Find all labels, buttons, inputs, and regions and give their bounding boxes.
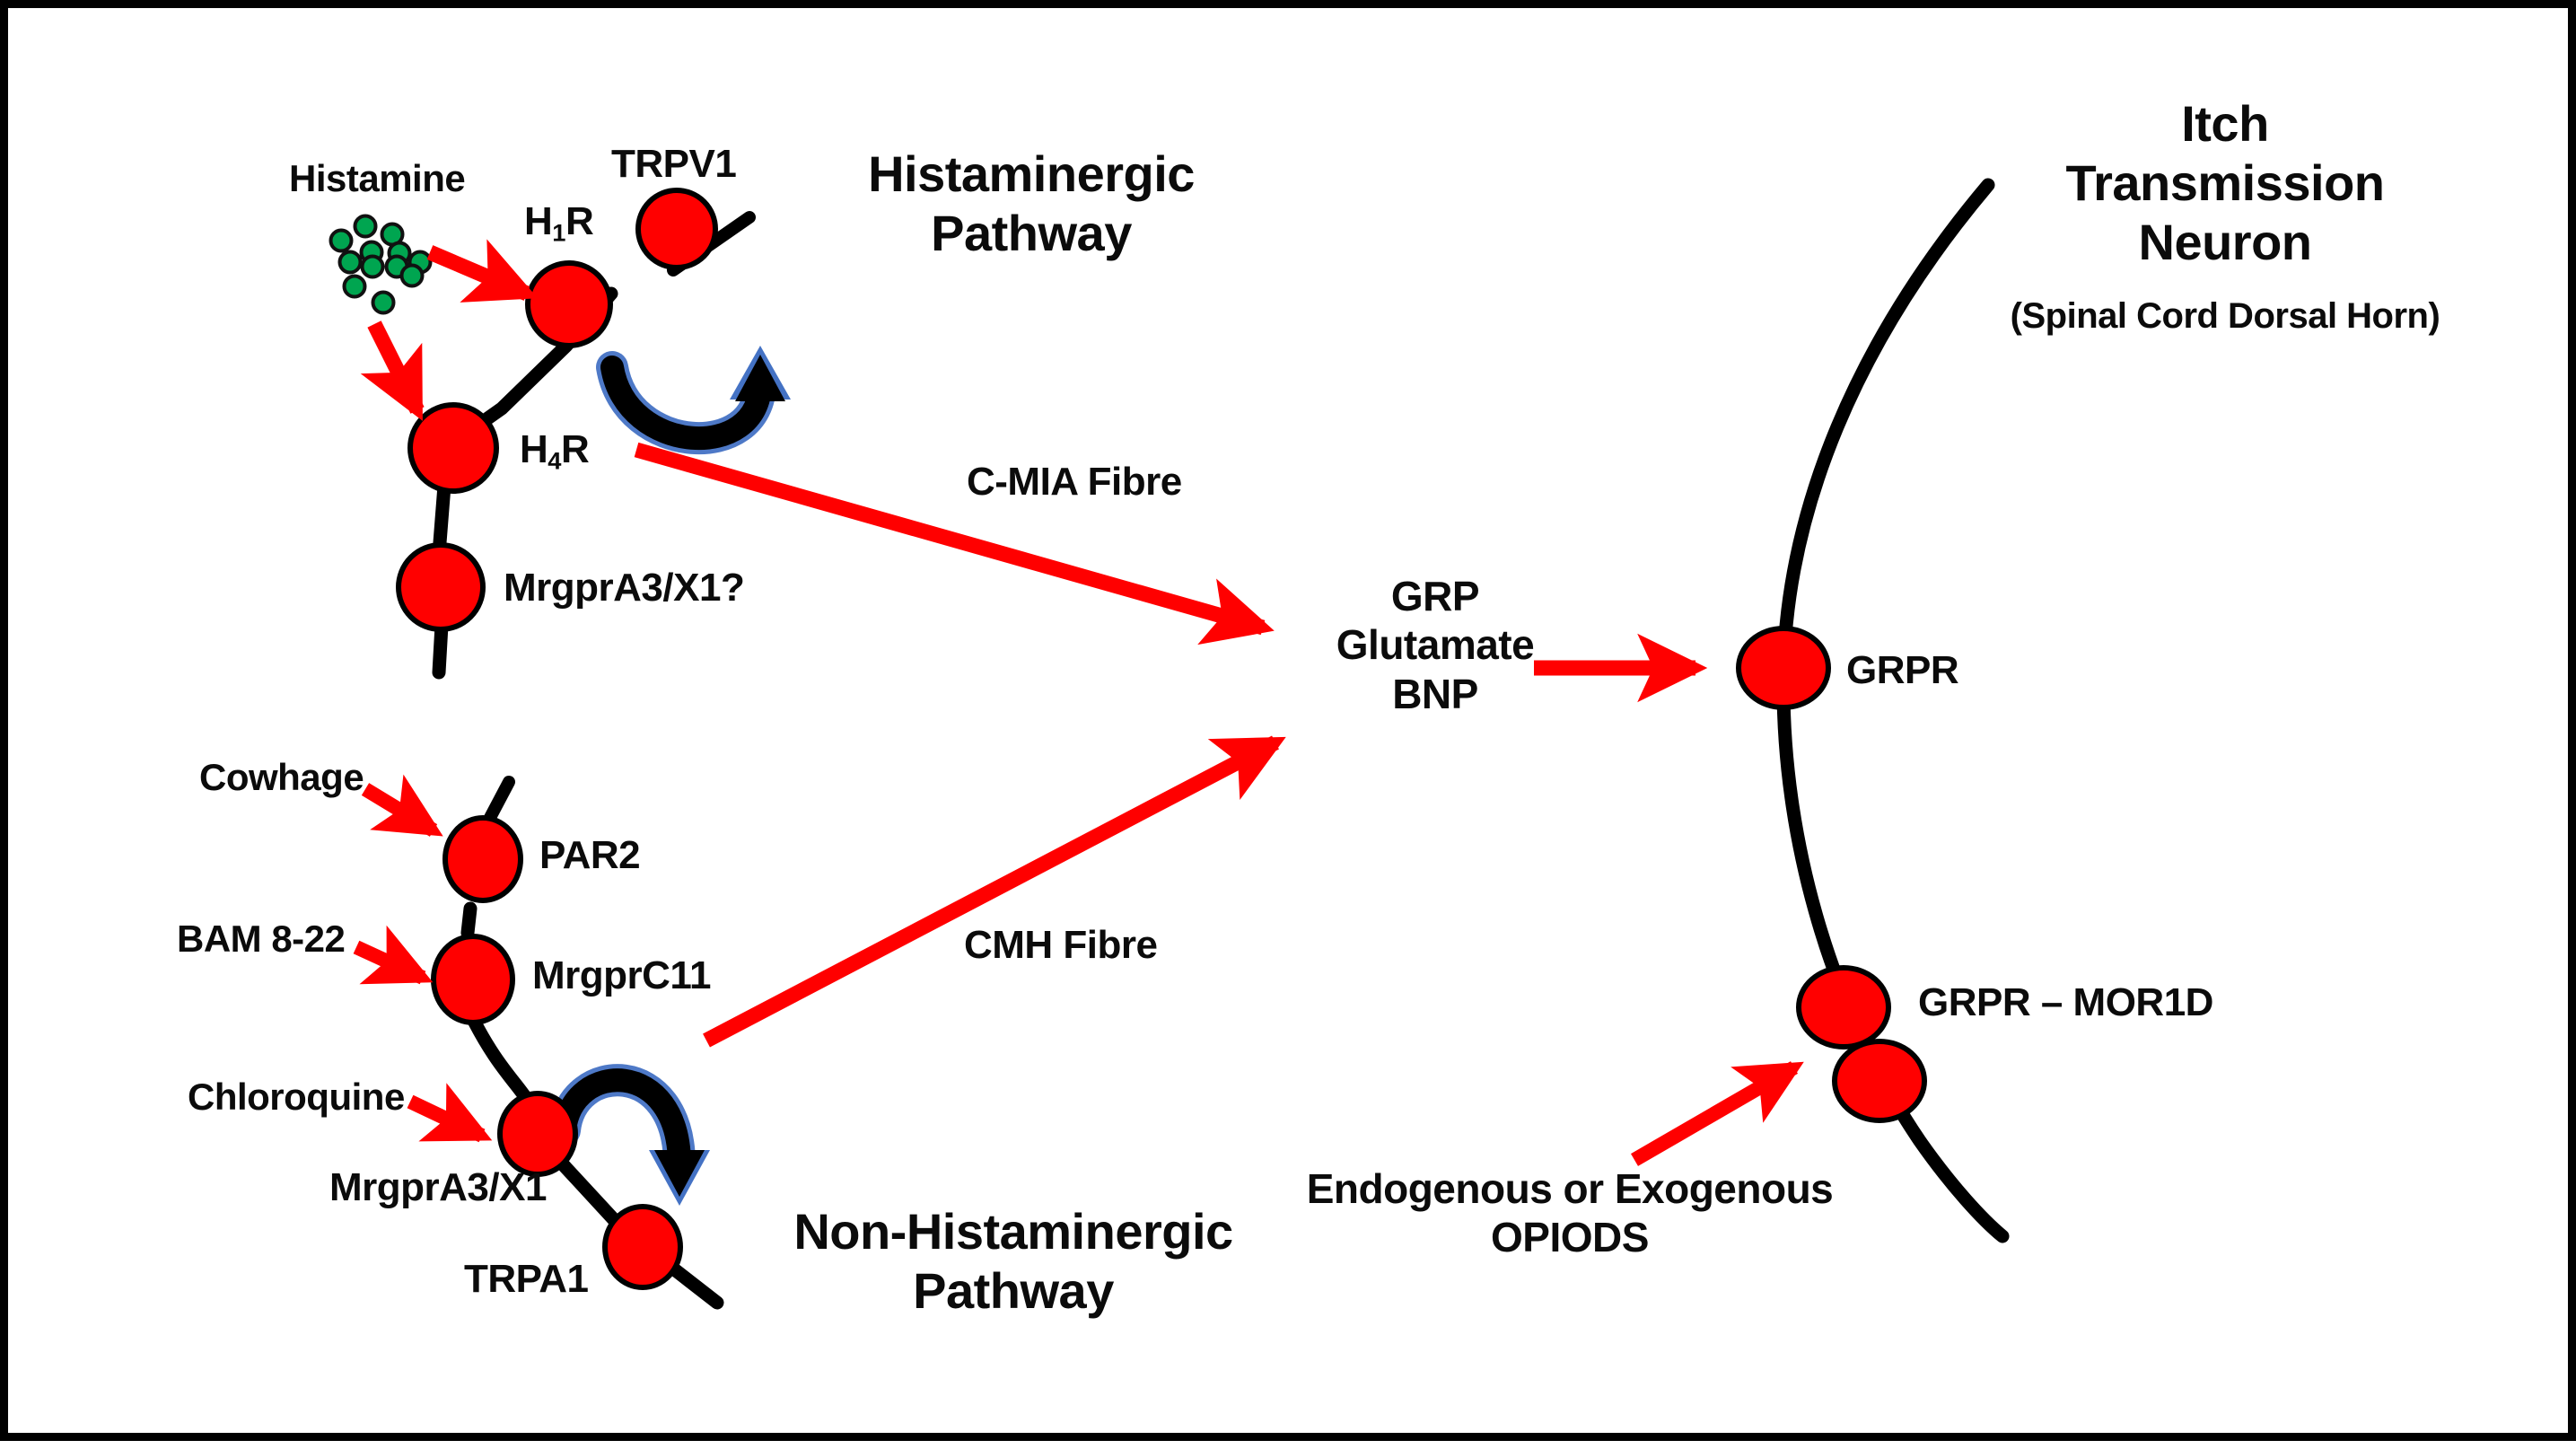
neuron-subtitle: (Spinal Cord Dorsal Horn) <box>1965 295 2485 338</box>
receptor-grpr[interactable] <box>1739 628 1828 707</box>
receptor-label-mrgprc11: MrgprC11 <box>532 953 711 999</box>
fibre-label-c-mia: C-MIA Fibre <box>967 459 1182 505</box>
receptor-label-mrgpra3x1: MrgprA3/X1 <box>329 1164 547 1211</box>
arrow-chloroquine-to-mrgpra3x1 <box>410 1102 482 1136</box>
receptor-label-trpa1: TRPA1 <box>464 1256 588 1303</box>
receptor-label-grpr-mor1d: GRPR – MOR1D <box>1918 979 2213 1026</box>
receptor-par2[interactable] <box>445 818 521 900</box>
receptor-grpr-mor1d-upper[interactable] <box>1799 968 1888 1047</box>
pathway-title-non-histaminergic: Non-HistaminergicPathway <box>717 1202 1310 1321</box>
ligand-label-chloroquine: Chloroquine <box>188 1075 405 1120</box>
receptor-trpv1[interactable] <box>638 190 715 268</box>
ligand-label-bam-8-22: BAM 8-22 <box>177 917 345 962</box>
arrow-bam822-to-mrgprc11 <box>356 947 423 978</box>
receptor-mrgprc11[interactable] <box>434 936 513 1023</box>
neuron-title: ItchTransmissionNeuron <box>1974 94 2476 272</box>
receptor-mrgpra3x1-question[interactable] <box>399 545 483 629</box>
receptor-trpa1[interactable] <box>605 1207 680 1287</box>
receptor-h4r[interactable] <box>410 405 496 491</box>
fibre-label-cmh: CMH Fibre <box>964 922 1158 969</box>
ligand-label-histamine: Histamine <box>289 156 465 201</box>
receptor-label-h1r: H1R <box>524 198 593 248</box>
synaptic-transmitters-label: GRPGlutamateBNP <box>1292 572 1579 718</box>
receptor-label-grpr: GRPR <box>1846 647 1958 694</box>
receptor-label-par2: PAR2 <box>539 832 640 879</box>
nerve-branch-mrgprc11-mrgpra3 <box>469 1012 530 1105</box>
sensitisation-curved-arrow-upper <box>612 346 791 438</box>
arrow-cmh-fibre <box>706 742 1275 1041</box>
arrow-histamine-to-h4r <box>374 324 417 410</box>
receptor-mrgpra3x1[interactable] <box>500 1093 575 1174</box>
receptor-label-mrgpra3x1-question: MrgprA3/X1? <box>504 565 744 611</box>
ligand-label-cowhage: Cowhage <box>199 755 364 800</box>
receptor-grpr-mor1d-lower[interactable] <box>1835 1041 1924 1120</box>
receptor-label-trpv1: TRPV1 <box>611 141 736 188</box>
arrow-opioids-to-grpr-mor1d <box>1634 1067 1794 1160</box>
diagram-frame: Histamine TRPV1 H1R H4R MrgprA3/X1? Hist… <box>0 0 2576 1441</box>
receptor-h1r[interactable] <box>528 263 610 346</box>
arrow-cowhage-to-par2 <box>365 789 434 830</box>
arrow-histamine-to-h1r <box>430 252 527 294</box>
nerve-branch-mrgpra3-trpa1 <box>565 1166 618 1225</box>
opioid-source-label: Endogenous or ExogenousOPIODS <box>1292 1164 1848 1262</box>
pathway-title-histaminergic: HistaminergicPathway <box>816 145 1247 263</box>
histamine-dots-icon <box>331 216 431 313</box>
nerve-branch-par2-mrgprc11 <box>468 909 470 933</box>
receptor-label-h4r: H4R <box>520 426 589 476</box>
